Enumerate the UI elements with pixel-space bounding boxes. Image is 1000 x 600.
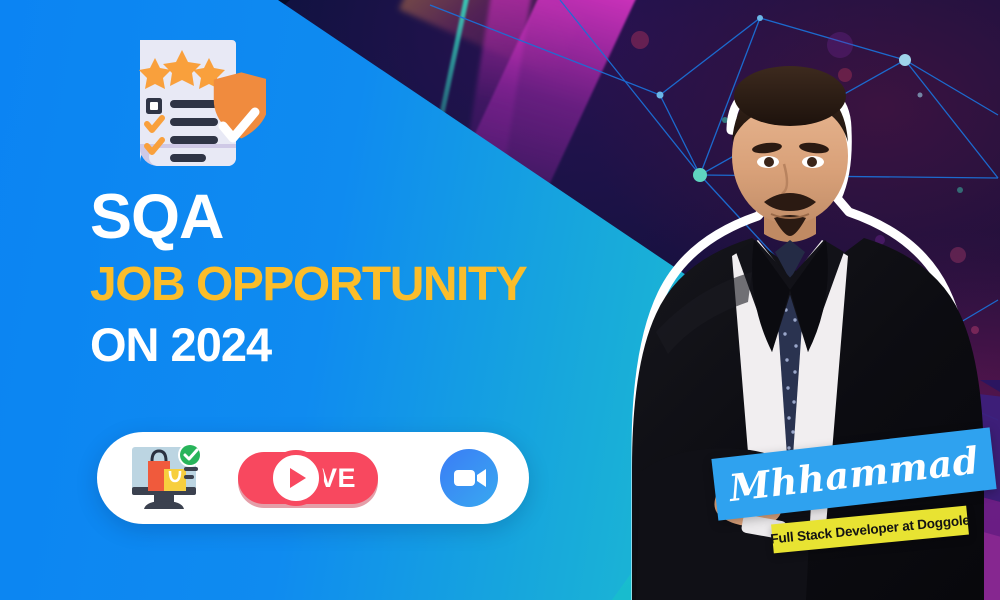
zoom-icon-slot[interactable] [440,449,498,507]
promo-banner: SQA JOB OPPORTUNITY ON 2024 [0,0,1000,600]
ecommerce-monitor-slot[interactable] [128,443,206,513]
headline-line-3: ON 2024 [90,321,630,368]
video-camera-icon [440,449,498,507]
headline-line-1: SQA [90,186,630,249]
live-badge[interactable]: LIVE [268,450,378,506]
play-button-circle[interactable] [268,450,324,506]
play-icon [290,468,306,488]
live-badge-slot[interactable]: LIVE [268,450,378,506]
ecommerce-monitor-icon [128,443,206,513]
headline-block: SQA JOB OPPORTUNITY ON 2024 [90,186,630,368]
headline-line-2: JOB OPPORTUNITY [90,261,630,309]
feature-icon-bar: LIVE [97,432,529,524]
qa-checklist-icon [118,30,266,175]
